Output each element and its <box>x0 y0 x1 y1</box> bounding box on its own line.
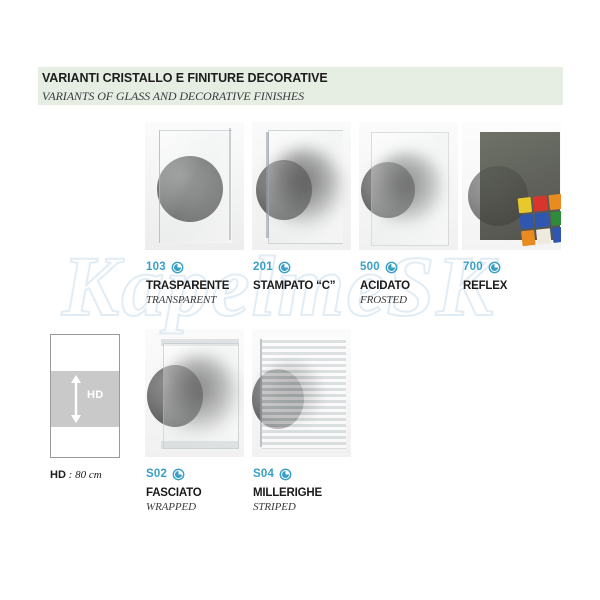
sample-code: S02 <box>146 468 167 480</box>
sample-name: FASCIATO <box>146 487 201 499</box>
code-row: 201 <box>253 259 335 275</box>
hd-dimension-arrow-icon <box>69 375 83 423</box>
glass-finish-badge-icon <box>488 261 501 274</box>
panel-band-bottom <box>161 441 239 449</box>
sample-translation: WRAPPED <box>146 501 201 513</box>
glass-finish-badge-icon <box>171 261 184 274</box>
reflected-color-cell <box>536 229 551 245</box>
reflected-color-cell <box>521 230 536 246</box>
sample-translation: STRIPED <box>253 501 322 513</box>
reflected-color-cell <box>533 195 548 211</box>
reflected-color-cell <box>519 214 534 230</box>
sample-image-millerighe[interactable] <box>252 329 351 457</box>
diffused-sphere <box>268 148 342 226</box>
sample-image-acidato[interactable] <box>359 122 458 250</box>
label-fasciato: S02 FASCIATO WRAPPED <box>146 466 201 513</box>
page-subtitle: VARIANTS OF GLASS AND DECORATIVE FINISHE… <box>42 89 304 104</box>
sample-image-stampato-c[interactable] <box>252 122 351 250</box>
panel-edge <box>260 339 262 447</box>
sample-name: STAMPATO “C” <box>253 280 335 292</box>
reflected-color-cell <box>552 227 561 243</box>
page-title: VARIANTI CRISTALLO E FINITURE DECORATIVE <box>42 71 328 85</box>
glass-finish-badge-icon <box>385 261 398 274</box>
striped-glass-panel <box>262 337 346 449</box>
glass-finish-badge-icon <box>278 261 291 274</box>
code-row: S02 <box>146 466 201 482</box>
sample-name: MILLERIGHE <box>253 487 322 499</box>
reflected-color-cell <box>550 210 561 226</box>
reflected-color-cell <box>518 197 533 213</box>
catalog-page: KapelmeSK VARIANTI CRISTALLO E FINITURE … <box>0 0 600 600</box>
reflected-color-cell <box>548 194 561 210</box>
sample-code: 500 <box>360 261 380 273</box>
sample-image-trasparente[interactable] <box>145 122 244 250</box>
sample-translation: TRANSPARENT <box>146 294 229 306</box>
glass-finish-badge-icon <box>172 468 185 481</box>
label-trasparente: 103 TRASPARENTE TRANSPARENT <box>146 259 229 306</box>
hd-caption-value: 80 cm <box>75 469 102 481</box>
sample-code: 201 <box>253 261 273 273</box>
panel-edge <box>229 128 231 240</box>
sample-image-reflex[interactable] <box>462 122 561 250</box>
sample-code: S04 <box>253 468 274 480</box>
frosted-sphere <box>371 152 443 224</box>
label-reflex: 700 REFLEX <box>463 259 507 294</box>
panel-edge <box>266 132 269 238</box>
sample-name: REFLEX <box>463 280 507 292</box>
sample-name: TRASPARENTE <box>146 280 229 292</box>
code-row: 500 <box>360 259 410 275</box>
label-millerighe: S04 MILLERIGHE STRIPED <box>253 466 322 513</box>
reflected-color-grid <box>518 194 561 246</box>
hd-caption: HD : 80 cm <box>50 469 102 481</box>
glass-panel <box>159 130 232 243</box>
glass-finish-badge-icon <box>279 468 292 481</box>
diffused-sphere <box>163 355 237 433</box>
code-row: 700 <box>463 259 507 275</box>
code-row: S04 <box>253 466 322 482</box>
sample-code: 700 <box>463 261 483 273</box>
code-row: 103 <box>146 259 229 275</box>
label-stampato-c: 201 STAMPATO “C” <box>253 259 335 294</box>
hd-diagram: HD <box>50 334 120 458</box>
hd-band <box>51 371 119 427</box>
label-acidato: 500 ACIDATO FROSTED <box>360 259 410 306</box>
sample-translation: FROSTED <box>360 294 410 306</box>
reflected-color-cell <box>535 212 550 228</box>
hd-caption-label: HD <box>50 469 66 481</box>
sample-code: 103 <box>146 261 166 273</box>
sample-name: ACIDATO <box>360 280 410 292</box>
sample-image-fasciato[interactable] <box>145 329 244 457</box>
hd-caption-separator: : <box>66 469 75 481</box>
hd-band-label: HD <box>87 389 104 401</box>
